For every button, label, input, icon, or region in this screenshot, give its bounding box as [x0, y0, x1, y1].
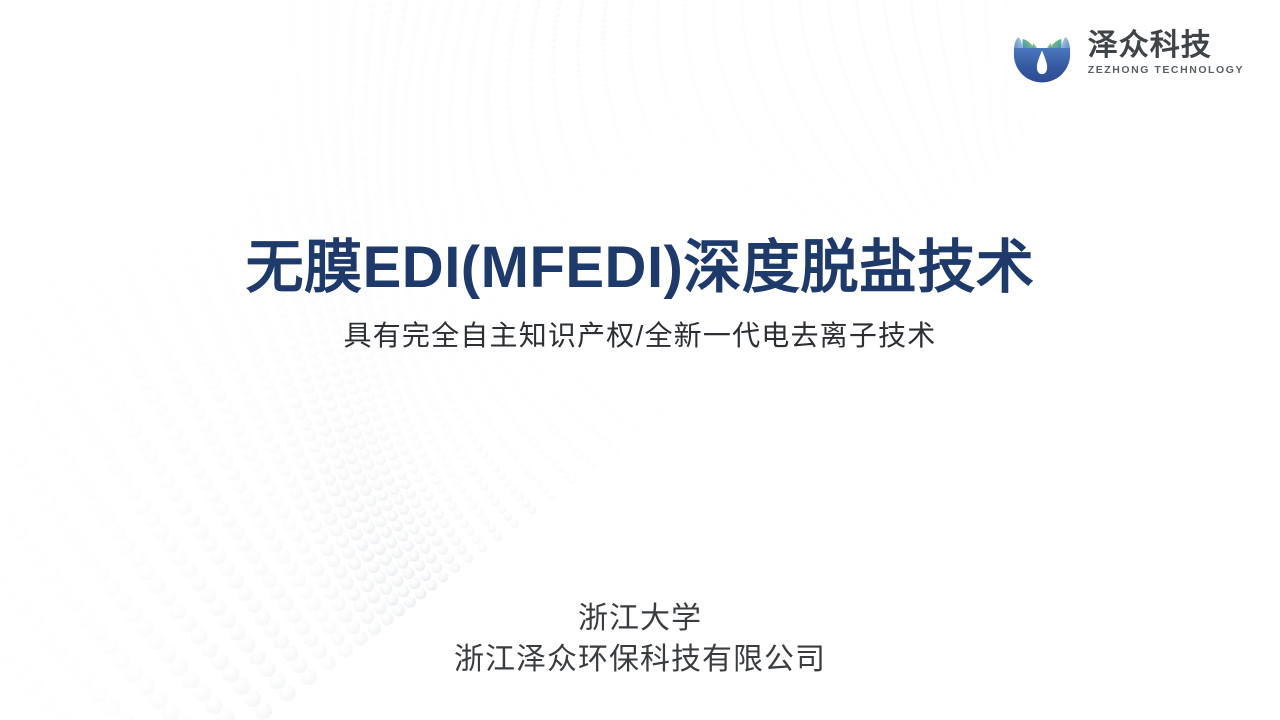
logo-company-name-en: ZEZHONG TECHNOLOGY: [1088, 64, 1244, 76]
headline-block: 无膜EDI(MFEDI)深度脱盐技术 具有完全自主知识产权/全新一代电去离子技术: [0, 236, 1280, 353]
lotus-waterdrop-logo-icon: [1010, 22, 1074, 84]
affiliation-line-university: 浙江大学: [0, 598, 1280, 639]
affiliation-block: 浙江大学 浙江泽众环保科技有限公司: [0, 598, 1280, 681]
logo-wordmark: 泽众科技 ZEZHONG TECHNOLOGY: [1088, 30, 1244, 77]
affiliation-line-company: 浙江泽众环保科技有限公司: [0, 639, 1280, 680]
company-logo: 泽众科技 ZEZHONG TECHNOLOGY: [1010, 22, 1244, 84]
logo-company-name-cn: 泽众科技: [1088, 30, 1212, 62]
slide-main-title: 无膜EDI(MFEDI)深度脱盐技术: [0, 236, 1280, 301]
slide-subtitle: 具有完全自主知识产权/全新一代电去离子技术: [0, 319, 1280, 353]
title-slide: 泽众科技 ZEZHONG TECHNOLOGY 无膜EDI(MFEDI)深度脱盐…: [0, 0, 1280, 720]
